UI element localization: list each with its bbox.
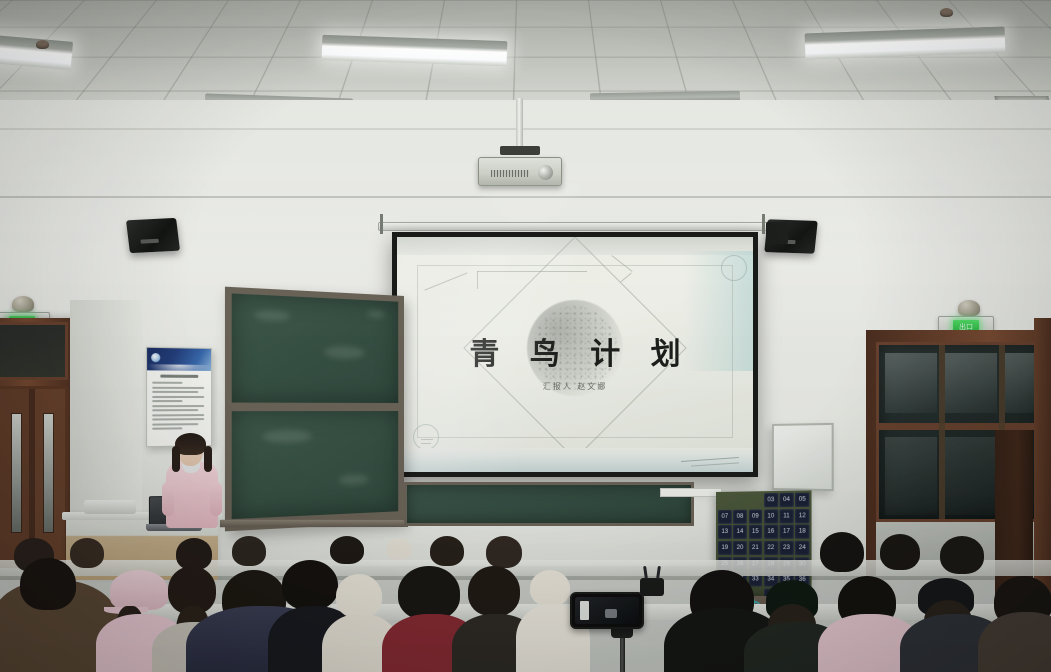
chalk-smudge: [367, 310, 385, 318]
chalk-smudge: [254, 310, 291, 322]
window-pane: [885, 437, 937, 515]
poster-header: [147, 348, 211, 371]
alarm-bell-icon: [12, 296, 34, 312]
seated-audience: [0, 522, 1051, 672]
slide-decor-circle: [413, 424, 439, 450]
slide-subtitle: 汇报人 赵文娜: [397, 381, 753, 392]
lecture-hall-scene: 出口 出口 青 鸟 计 划 汇报人 赵文娜: [0, 0, 1051, 672]
numberboard-empty-slot: [748, 493, 762, 508]
numberboard-cell[interactable]: 04: [779, 493, 793, 508]
green-chalkboard: [225, 287, 404, 532]
chalk-smudge: [263, 429, 312, 442]
rail-bracket: [762, 214, 765, 234]
poster-body-text: [147, 370, 211, 429]
presenter-at-podium: [166, 436, 218, 526]
window-pane: [945, 437, 995, 515]
numberboard-cell[interactable]: 03: [764, 493, 778, 508]
screen-roller-case: [766, 222, 788, 244]
smartphone-on-tripod[interactable]: [570, 592, 644, 629]
audience-head: [282, 560, 338, 610]
audience-head: [880, 534, 920, 570]
presenter-hair-side: [172, 446, 180, 472]
audience-head: [940, 536, 984, 574]
projection-screen-surface: 青 鸟 计 划 汇报人 赵文娜: [397, 237, 753, 472]
wall-seam: [0, 128, 1051, 130]
alarm-bell-icon: [958, 300, 980, 316]
slide-decor-line: [421, 439, 433, 440]
wireless-microphone-receiver: [640, 578, 664, 596]
wall-poster: [146, 347, 212, 447]
wall-speaker-left: [126, 218, 180, 253]
projection-screen[interactable]: 青 鸟 计 划 汇报人 赵文娜: [392, 232, 758, 477]
projector-vent-icon: [491, 170, 529, 177]
presenter-arm-right: [210, 482, 222, 516]
rail-bracket: [380, 214, 383, 234]
numberboard-empty-slot: [733, 493, 747, 507]
chalk-smudge: [324, 346, 365, 359]
audience-head: [232, 536, 266, 566]
audience-head: [486, 536, 522, 568]
audience-head: [70, 538, 104, 568]
slide-decor-circle: [721, 255, 747, 281]
audience-head: [398, 566, 460, 620]
numberboard-cell[interactable]: 12: [795, 509, 809, 524]
chalkboard-lower-panel: [404, 482, 694, 526]
window-mullion: [879, 423, 1041, 430]
audience-head-light: [530, 570, 570, 606]
chalkboard-surface: [407, 485, 691, 523]
door-glass-panel: [43, 413, 54, 533]
phone-screen[interactable]: [575, 597, 639, 624]
presenter-arm-left: [162, 482, 174, 516]
screen-mount-rail: [378, 222, 776, 231]
phone-preview-content: [605, 609, 617, 618]
audience-head: [820, 532, 864, 572]
window-pane: [885, 353, 937, 413]
slide-decor-line: [421, 443, 431, 444]
audience-cap: [110, 570, 168, 610]
whiteboard: [772, 423, 834, 491]
projector-bracket: [500, 146, 540, 155]
presenter-hair-side: [204, 446, 212, 472]
audience-head: [386, 538, 412, 560]
window-pane: [945, 353, 997, 413]
door-glass-panel: [11, 413, 22, 533]
audience-head: [430, 536, 464, 566]
podium-papers: [84, 500, 136, 514]
slide-title: 青 鸟 计 划: [397, 329, 753, 373]
poster-logo-icon: [151, 353, 160, 362]
chalk-smudge: [339, 474, 369, 485]
phone-ui-panel-icon: [580, 613, 589, 620]
projector-lens-icon: [538, 165, 553, 180]
numberboard-empty-slot: [718, 494, 732, 508]
audience-head-light: [336, 574, 382, 618]
smoke-detector-icon: [940, 8, 953, 17]
audience-head: [20, 558, 76, 610]
audience-head: [330, 536, 364, 564]
audience-head: [468, 566, 520, 616]
tripod-pole: [620, 632, 625, 672]
chalkboard-panel-bottom: [229, 409, 400, 522]
smoke-detector-icon: [36, 40, 49, 49]
left-door-transom-window: [0, 322, 68, 380]
slide-decor-line: [477, 271, 478, 289]
chalkboard-panel-top: [229, 291, 400, 404]
numberboard-label-strip: [660, 488, 722, 497]
numberboard-cell[interactable]: 05: [795, 492, 809, 507]
projector-mount-pole: [516, 98, 523, 150]
